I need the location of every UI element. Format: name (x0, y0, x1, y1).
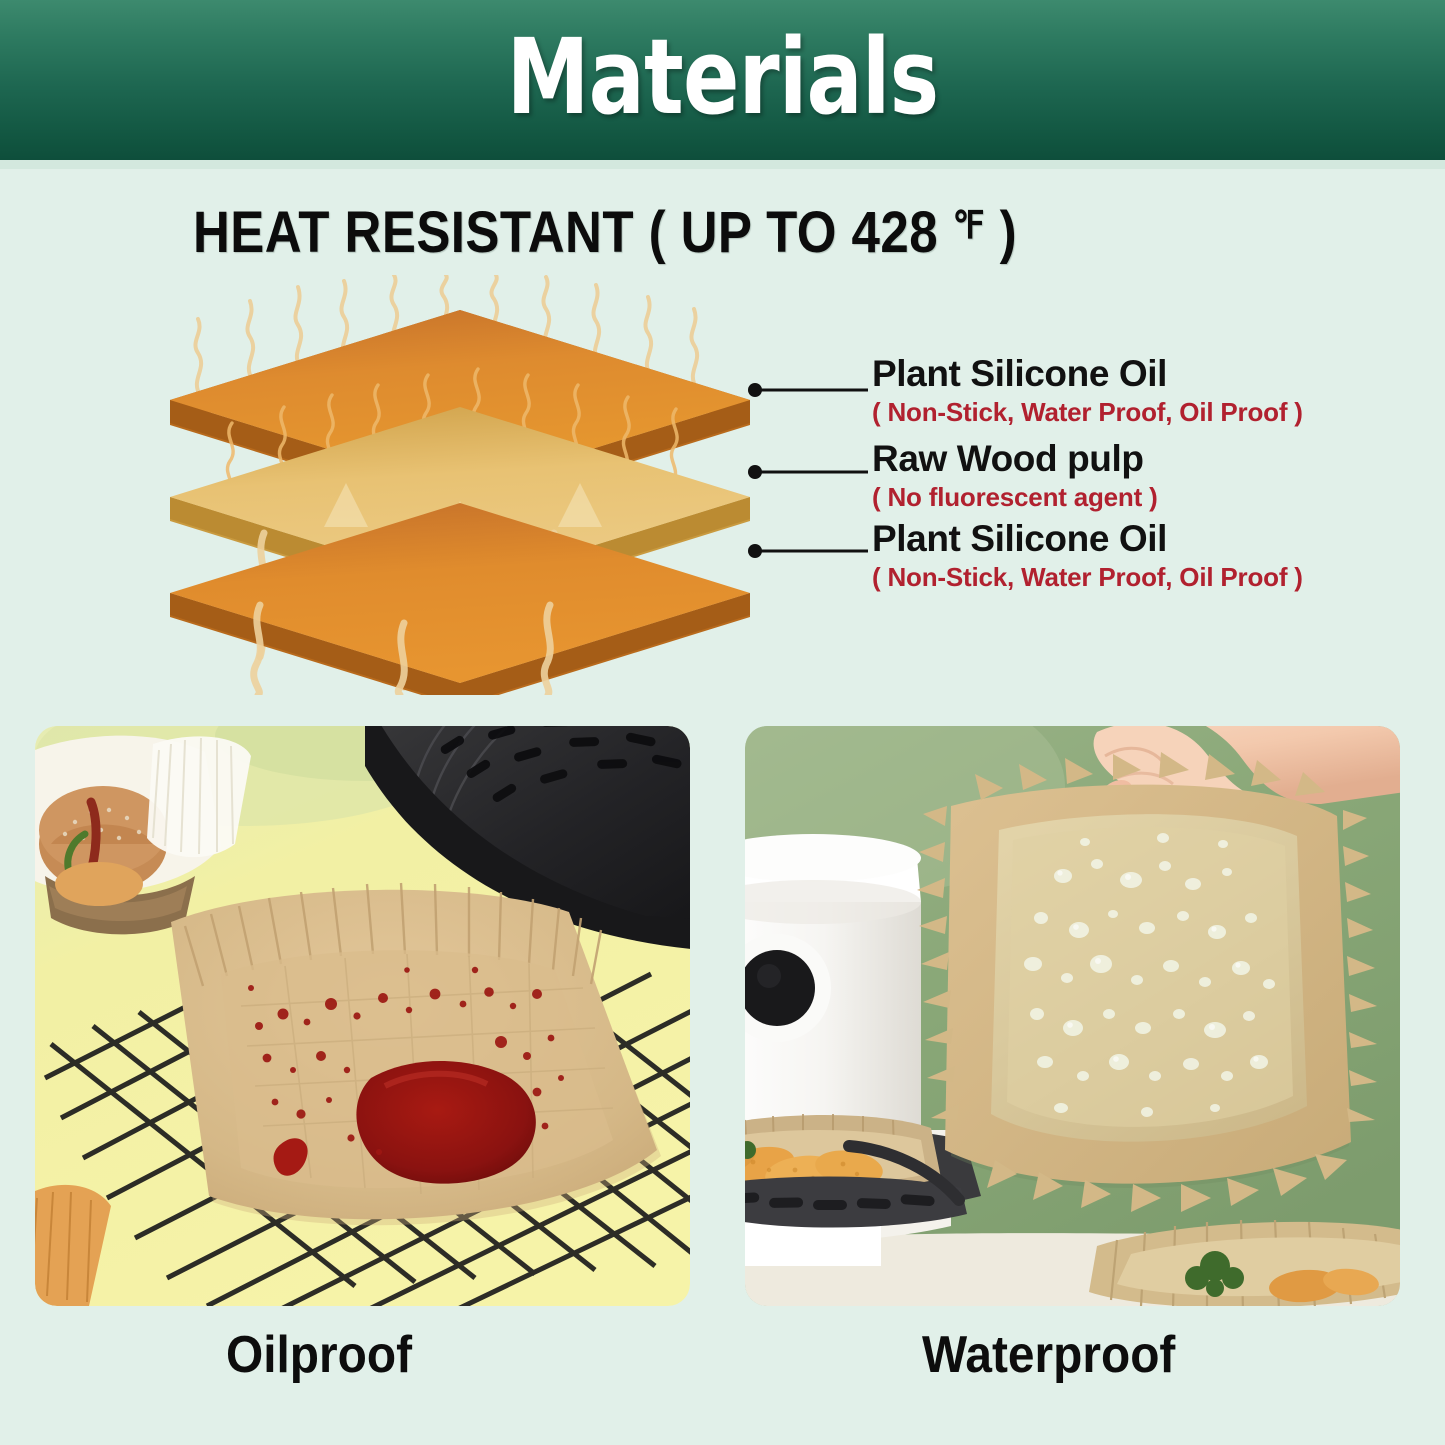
caption-waterproof: Waterproof (922, 1325, 1175, 1385)
callout-plant-silicone-oil-bottom: Plant Silicone Oil ( Non-Stick, Water Pr… (872, 520, 1303, 590)
callout-title: Plant Silicone Oil (872, 520, 1303, 557)
callout-subtitle: ( Non-Stick, Water Proof, Oil Proof ) (872, 564, 1303, 590)
material-layer-diagram (160, 275, 840, 695)
degree-fahrenheit-symbol: ℉ (953, 205, 985, 247)
callout-title: Plant Silicone Oil (872, 355, 1303, 392)
page-title: Materials (145, 16, 1301, 139)
liner-with-water-droplets (917, 752, 1377, 1212)
photo-oilproof (35, 726, 690, 1306)
photo-waterproof (745, 726, 1400, 1306)
callout-title: Raw Wood pulp (872, 440, 1158, 477)
header-underline (0, 160, 1445, 169)
heat-resistant-heading: HEAT RESISTANT ( UP TO 428 ℉ ) (193, 199, 1017, 266)
callout-raw-wood-pulp: Raw Wood pulp ( No fluorescent agent ) (872, 440, 1158, 510)
callout-subtitle: ( No fluorescent agent ) (872, 484, 1158, 510)
heading-suffix: ) (985, 200, 1017, 265)
heading-prefix: HEAT RESISTANT ( UP TO 428 (193, 200, 953, 265)
caption-oilproof: Oilproof (226, 1325, 412, 1385)
callout-plant-silicone-oil-top: Plant Silicone Oil ( Non-Stick, Water Pr… (872, 355, 1303, 425)
callout-subtitle: ( Non-Stick, Water Proof, Oil Proof ) (872, 399, 1303, 425)
